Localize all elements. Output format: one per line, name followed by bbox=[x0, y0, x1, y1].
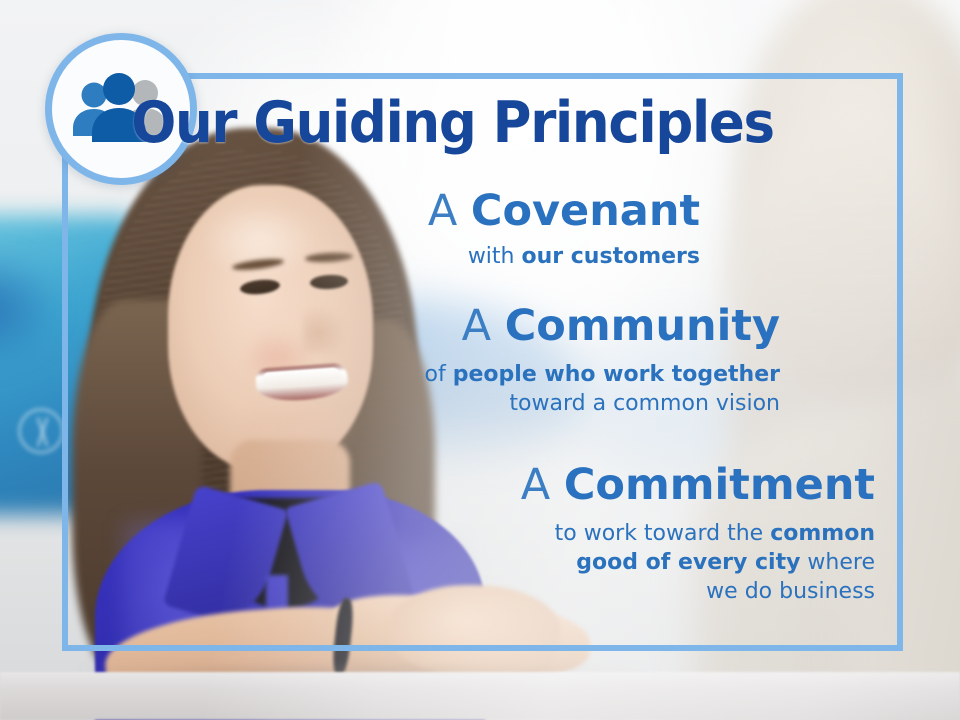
vw-logo-blurred-icon bbox=[18, 408, 64, 454]
people-group-badge bbox=[45, 33, 197, 185]
poster-canvas: FLOW AUTOMOTIVE FLOW Our Guidin bbox=[0, 0, 960, 720]
blurred-customer bbox=[695, 0, 960, 680]
employee-clasped-hands bbox=[390, 585, 560, 675]
blue-display-panel-glow bbox=[0, 250, 60, 370]
people-group-icon bbox=[67, 72, 175, 146]
table-surface bbox=[0, 672, 960, 720]
